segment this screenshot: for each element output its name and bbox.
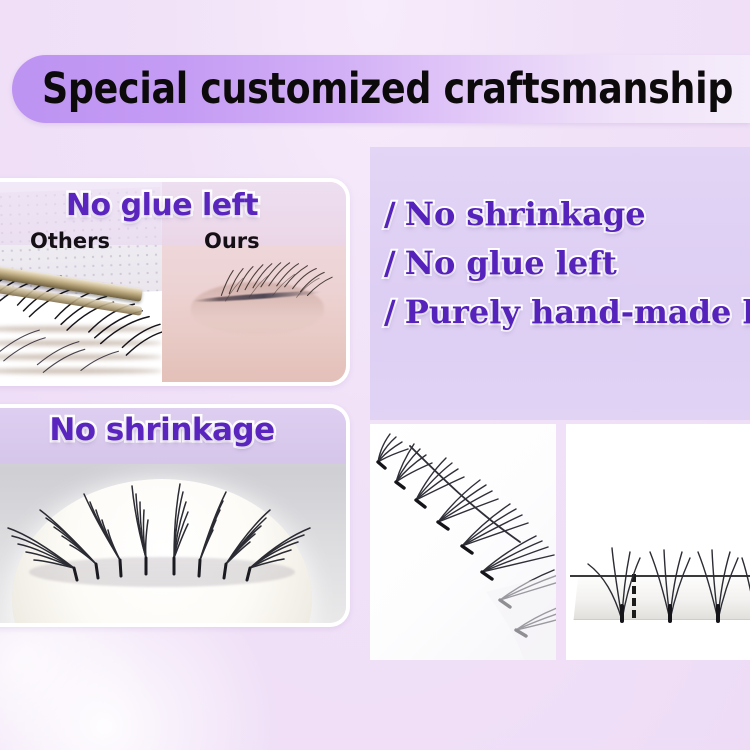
poster-canvas: Special customized craftsmanship <box>0 0 750 750</box>
lash-strip-drawing <box>566 424 750 660</box>
slash-bullet-1: / <box>384 195 396 233</box>
feature-label-1: No shrinkage <box>405 195 646 233</box>
lash-fan-photo <box>370 424 556 660</box>
slash-bullet-2: / <box>384 244 396 282</box>
comparison-card: No glue left Others Ours <box>0 178 350 386</box>
feature-label-2: No glue left <box>405 244 617 282</box>
comparison-heading: No glue left <box>0 188 346 223</box>
lash-strip-photo <box>566 424 750 660</box>
page-title: Special customized craftsmanship <box>42 50 719 128</box>
feature-item-2: /No glue left <box>384 239 750 288</box>
feature-item-1: /No shrinkage <box>384 190 750 239</box>
label-ours: Ours <box>204 229 260 253</box>
feature-list: /No shrinkage /No glue left /Purely hand… <box>384 190 750 337</box>
feature-item-3: /Purely hand-made ha <box>384 288 750 337</box>
slash-bullet-3: / <box>384 293 396 331</box>
shrinkage-card: No shrinkage <box>0 404 350 627</box>
lash-fan-drawing <box>370 424 556 660</box>
feature-label-3: Purely hand-made ha <box>405 293 750 331</box>
label-others: Others <box>30 229 110 253</box>
shrinkage-heading: No shrinkage <box>0 412 346 448</box>
